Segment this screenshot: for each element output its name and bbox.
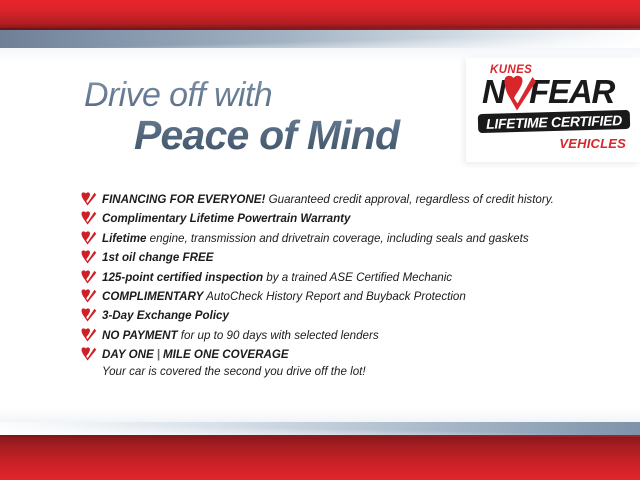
logo-lifetime-certified-text: LIFETIME CERTIFIED [478,112,630,132]
logo-vehicles-text: VEHICLES [476,136,626,151]
check-mark-icon [80,249,97,264]
top-gray-band-highlight [0,30,640,48]
list-item-text: 3-Day Exchange Policy [102,309,229,322]
list-item-text: 1st oil change FREE [102,251,213,264]
bottom-red-band [0,437,640,480]
list-item-bold-day-one: DAY ONE [102,348,154,361]
kunes-no-fear-logo: KUNES NOFEAR LIFETIME CERTIFIED VEHICLES [476,62,632,158]
list-item: 1st oil change FREE [80,248,580,267]
list-item-bold: 125-point certified inspection [102,271,263,284]
list-item-bold: COMPLIMENTARY [102,290,203,303]
headline: Drive off with Peace of Mind [84,76,464,158]
list-item-text: NO PAYMENT for up to 90 days with select… [102,329,379,342]
list-item-rest: Guaranteed credit approval, regardless o… [265,193,554,206]
list-item: NO PAYMENT for up to 90 days with select… [80,326,580,345]
list-item: 3-Day Exchange Policy [80,306,580,325]
list-item-rest: AutoCheck History Report and Buyback Pro… [203,290,466,303]
logo-wordmark-fear: FEAR [529,73,614,110]
list-item-rest: engine, transmission and drivetrain cove… [146,232,528,245]
check-mark-icon [80,230,97,245]
list-item-rest: by a trained ASE Certified Mechanic [263,271,452,284]
check-mark-icon [80,327,97,342]
check-mark-icon [80,210,97,225]
list-item-bold: Lifetime [102,232,146,245]
top-red-band [0,0,640,29]
list-item: Lifetime engine, transmission and drivet… [80,229,580,248]
list-item-bold-mile-one: MILE ONE COVERAGE [163,348,289,361]
list-item-text: 125-point certified inspection by a trai… [102,271,452,284]
list-item-text: FINANCING FOR EVERYONE! Guaranteed credi… [102,193,554,206]
bottom-band-fade [0,408,640,422]
promo-banner: Drive off with Peace of Mind KUNES NOFEA… [0,0,640,480]
logo-lifetime-certified-banner: LIFETIME CERTIFIED [478,110,630,133]
check-mark-icon [80,288,97,303]
list-item-subtext: Your car is covered the second you drive… [80,364,580,380]
bottom-gray-band-highlight [0,422,640,435]
list-item: FINANCING FOR EVERYONE! Guaranteed credi… [80,190,580,209]
list-item: COMPLIMENTARY AutoCheck History Report a… [80,287,580,306]
list-item-text: DAY ONE|MILE ONE COVERAGE [102,348,289,361]
list-item-rest: for up to 90 days with selected lenders [178,329,379,342]
list-item-text: Complimentary Lifetime Powertrain Warran… [102,212,350,225]
list-item-bold: Complimentary Lifetime Powertrain Warran… [102,212,350,225]
check-mark-icon [80,269,97,284]
logo-no-fear-wordmark: NOFEAR [482,75,632,111]
list-item-text: COMPLIMENTARY AutoCheck History Report a… [102,290,466,303]
list-item-separator: | [154,348,163,361]
list-item: 125-point certified inspection by a trai… [80,268,580,287]
list-item-bold: 1st oil change FREE [102,251,213,264]
check-mark-icon [80,191,97,206]
check-mark-icon [80,346,97,361]
list-item-bold: FINANCING FOR EVERYONE! [102,193,265,206]
list-item: Complimentary Lifetime Powertrain Warran… [80,209,580,228]
check-mark-icon [501,72,537,112]
list-item-bold: NO PAYMENT [102,329,178,342]
list-item-text: Lifetime engine, transmission and drivet… [102,232,529,245]
headline-line-2: Peace of Mind [134,112,464,158]
check-mark-icon [80,307,97,322]
feature-list: FINANCING FOR EVERYONE! Guaranteed credi… [80,190,580,380]
list-item: DAY ONE|MILE ONE COVERAGE [80,345,580,364]
list-item-bold: 3-Day Exchange Policy [102,309,229,322]
headline-line-1: Drive off with [84,76,464,114]
